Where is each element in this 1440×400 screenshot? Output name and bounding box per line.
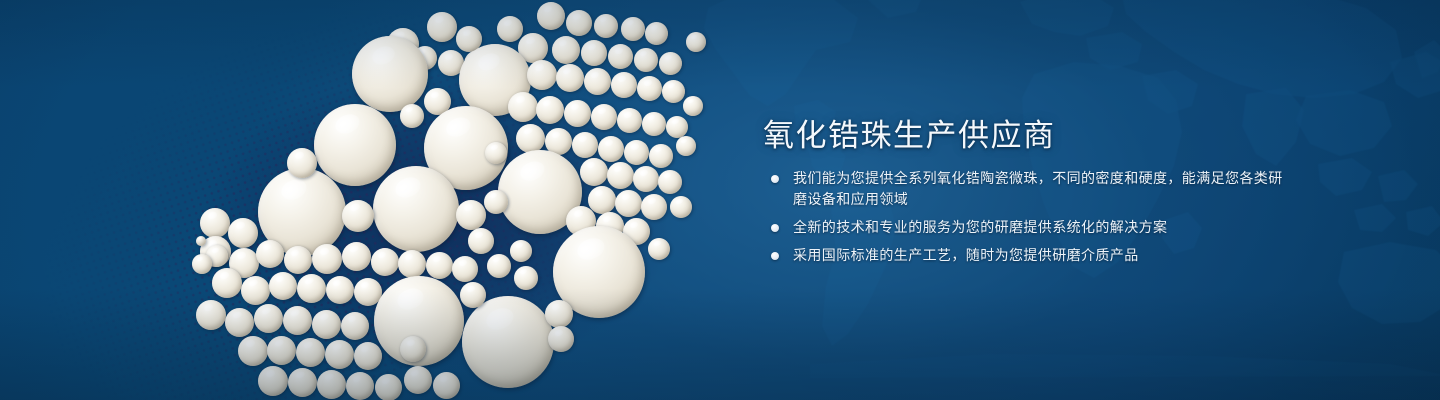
bullet-text: 全新的技术和专业的服务为您的研磨提供系统化的解决方案	[793, 219, 1167, 235]
list-item: 全新的技术和专业的服务为您的研磨提供系统化的解决方案	[768, 217, 1288, 238]
list-item: 采用国际标准的生产工艺，随时为您提供研磨介质产品	[768, 245, 1288, 266]
bullet-dot-icon	[771, 224, 779, 232]
bullet-text: 我们能为您提供全系列氧化锆陶瓷微珠，不同的密度和硬度，能满足您各类研磨设备和应用…	[793, 170, 1283, 207]
promo-banner: 氧化锆珠生产供应商 我们能为您提供全系列氧化锆陶瓷微珠，不同的密度和硬度，能满足…	[0, 0, 1440, 400]
list-item: 我们能为您提供全系列氧化锆陶瓷微珠，不同的密度和硬度，能满足您各类研磨设备和应用…	[768, 168, 1288, 210]
bullet-text: 采用国际标准的生产工艺，随时为您提供研磨介质产品	[793, 247, 1139, 263]
bullet-dot-icon	[771, 252, 779, 260]
banner-bullet-list: 我们能为您提供全系列氧化锆陶瓷微珠，不同的密度和硬度，能满足您各类研磨设备和应用…	[768, 168, 1288, 273]
bullet-dot-icon	[771, 175, 779, 183]
banner-headline: 氧化锆珠生产供应商	[763, 110, 1056, 155]
banner-content: 氧化锆珠生产供应商 我们能为您提供全系列氧化锆陶瓷微珠，不同的密度和硬度，能满足…	[763, 0, 1323, 400]
